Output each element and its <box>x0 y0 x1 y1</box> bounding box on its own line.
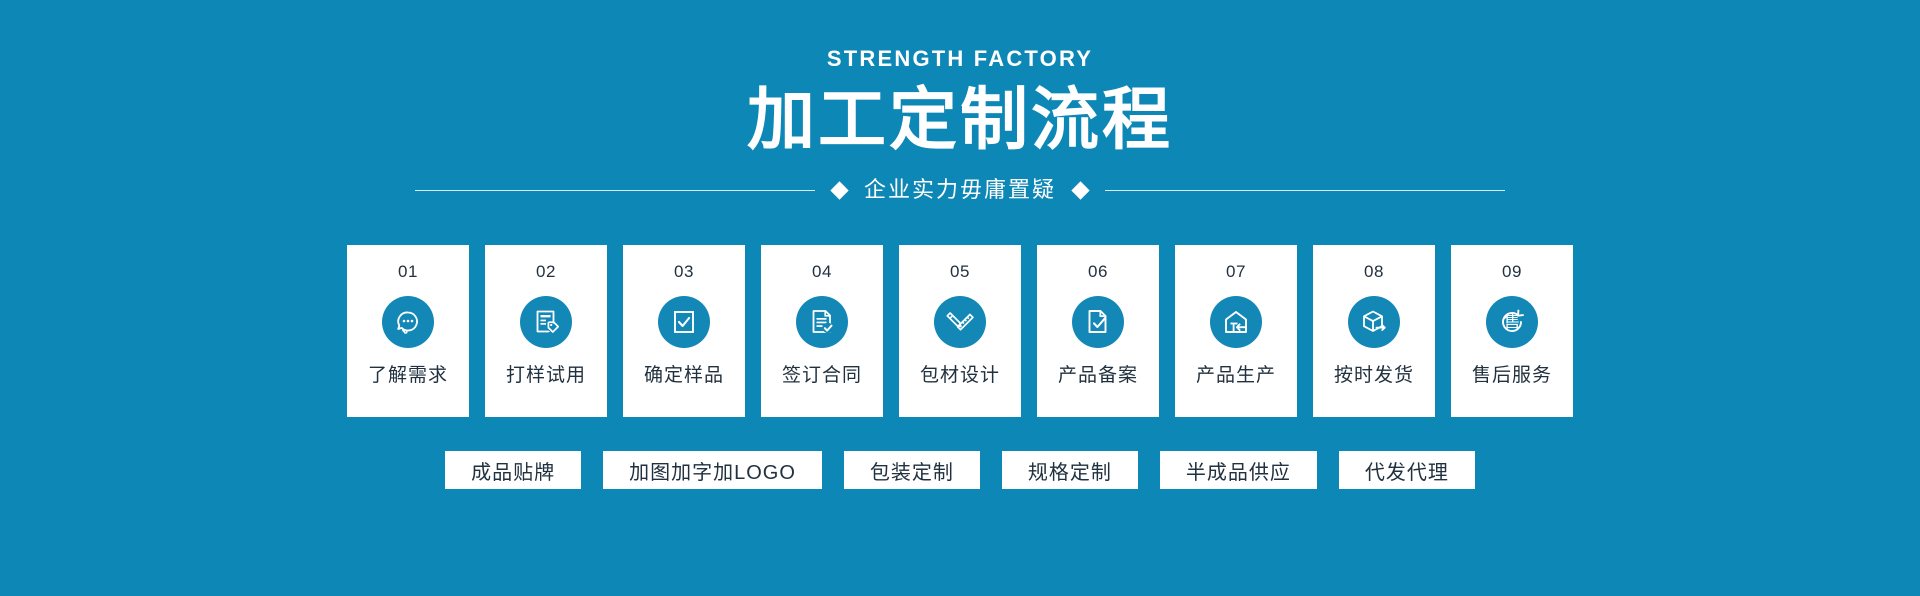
tag-item[interactable]: 加图加字加LOGO <box>603 451 822 489</box>
box-arrow-icon <box>1348 296 1400 348</box>
subtitle-row: 企业实力毋庸置疑 <box>0 179 1920 201</box>
step-number: 04 <box>812 263 832 280</box>
step-number: 08 <box>1364 263 1384 280</box>
service-tags: 成品贴牌 加图加字加LOGO 包装定制 规格定制 半成品供应 代发代理 <box>0 451 1920 489</box>
banner-header: STRENGTH FACTORY 加工定制流程 <box>0 0 1920 157</box>
checkbox-icon <box>658 296 710 348</box>
pencil-ruler-icon <box>934 296 986 348</box>
step-number: 07 <box>1226 263 1246 280</box>
step-number: 01 <box>398 263 418 280</box>
rule-right <box>1105 190 1505 191</box>
step-number: 05 <box>950 263 970 280</box>
step-label: 确定样品 <box>644 366 724 385</box>
diamond-right-icon <box>1071 181 1089 199</box>
step-card-09[interactable]: 09 售 售后服务 <box>1451 245 1573 417</box>
document-tag-icon <box>520 296 572 348</box>
step-card-03[interactable]: 03 确定样品 <box>623 245 745 417</box>
step-card-07[interactable]: 07 产品生产 <box>1175 245 1297 417</box>
step-label: 打样试用 <box>506 366 586 385</box>
step-number: 02 <box>536 263 556 280</box>
step-label: 产品生产 <box>1196 366 1276 385</box>
step-number: 03 <box>674 263 694 280</box>
diamond-left-icon <box>830 181 848 199</box>
step-label: 产品备案 <box>1058 366 1138 385</box>
step-number: 09 <box>1502 263 1522 280</box>
page-title: 加工定制流程 <box>0 84 1920 157</box>
step-card-01[interactable]: 01 了解需求 <box>347 245 469 417</box>
file-check-icon <box>1072 296 1124 348</box>
tag-item[interactable]: 代发代理 <box>1339 451 1475 489</box>
step-card-02[interactable]: 02 打样试用 <box>485 245 607 417</box>
tag-item[interactable]: 规格定制 <box>1002 451 1138 489</box>
contract-check-icon <box>796 296 848 348</box>
process-steps: 01 了解需求 02 <box>0 245 1920 417</box>
eyebrow-text: STRENGTH FACTORY <box>0 48 1920 70</box>
step-label: 按时发货 <box>1334 366 1414 385</box>
rule-left <box>415 190 815 191</box>
step-label: 签订合同 <box>782 366 862 385</box>
step-card-08[interactable]: 08 按时发货 <box>1313 245 1435 417</box>
step-card-04[interactable]: 04 签订合同 <box>761 245 883 417</box>
step-card-05[interactable]: 05 包材设计 <box>899 245 1021 417</box>
chat-bubble-icon <box>382 296 434 348</box>
step-label: 包材设计 <box>920 366 1000 385</box>
after-sales-icon: 售 <box>1486 296 1538 348</box>
tag-item[interactable]: 包装定制 <box>844 451 980 489</box>
subtitle-text: 企业实力毋庸置疑 <box>864 179 1056 201</box>
promo-banner: STRENGTH FACTORY 加工定制流程 企业实力毋庸置疑 01 了 <box>0 0 1920 596</box>
tag-item[interactable]: 半成品供应 <box>1160 451 1317 489</box>
svg-text:售: 售 <box>1504 313 1521 333</box>
step-label: 售后服务 <box>1472 366 1552 385</box>
step-number: 06 <box>1088 263 1108 280</box>
tag-item[interactable]: 成品贴牌 <box>445 451 581 489</box>
step-label: 了解需求 <box>368 366 448 385</box>
factory-arrow-icon <box>1210 296 1262 348</box>
step-card-06[interactable]: 06 产品备案 <box>1037 245 1159 417</box>
